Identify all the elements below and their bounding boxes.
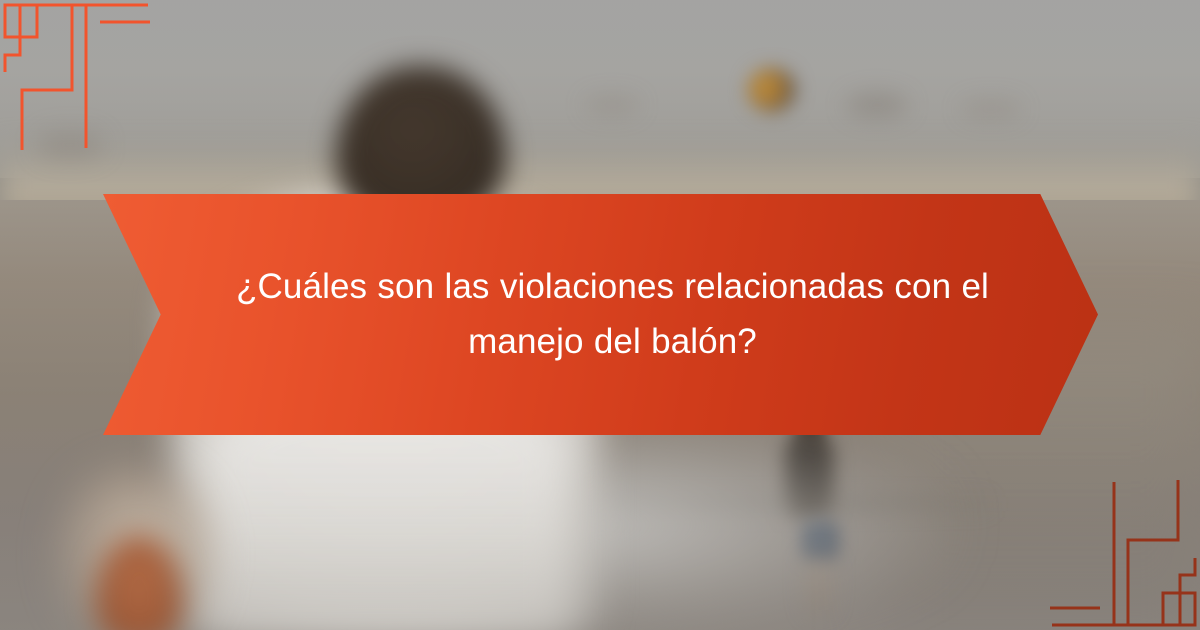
share-card: ¿Cuáles son las violaciones relacionadas…	[0, 0, 1200, 630]
background-ball-shadow	[846, 92, 908, 118]
background-wall-mark	[38, 132, 102, 158]
background-ball	[748, 68, 796, 112]
headline-text: ¿Cuáles son las violaciones relacionadas…	[218, 260, 1008, 369]
background-wall-mark	[586, 96, 638, 114]
headline-banner: ¿Cuáles son las violaciones relacionadas…	[103, 194, 1098, 435]
background-wall-mark	[962, 100, 1020, 118]
